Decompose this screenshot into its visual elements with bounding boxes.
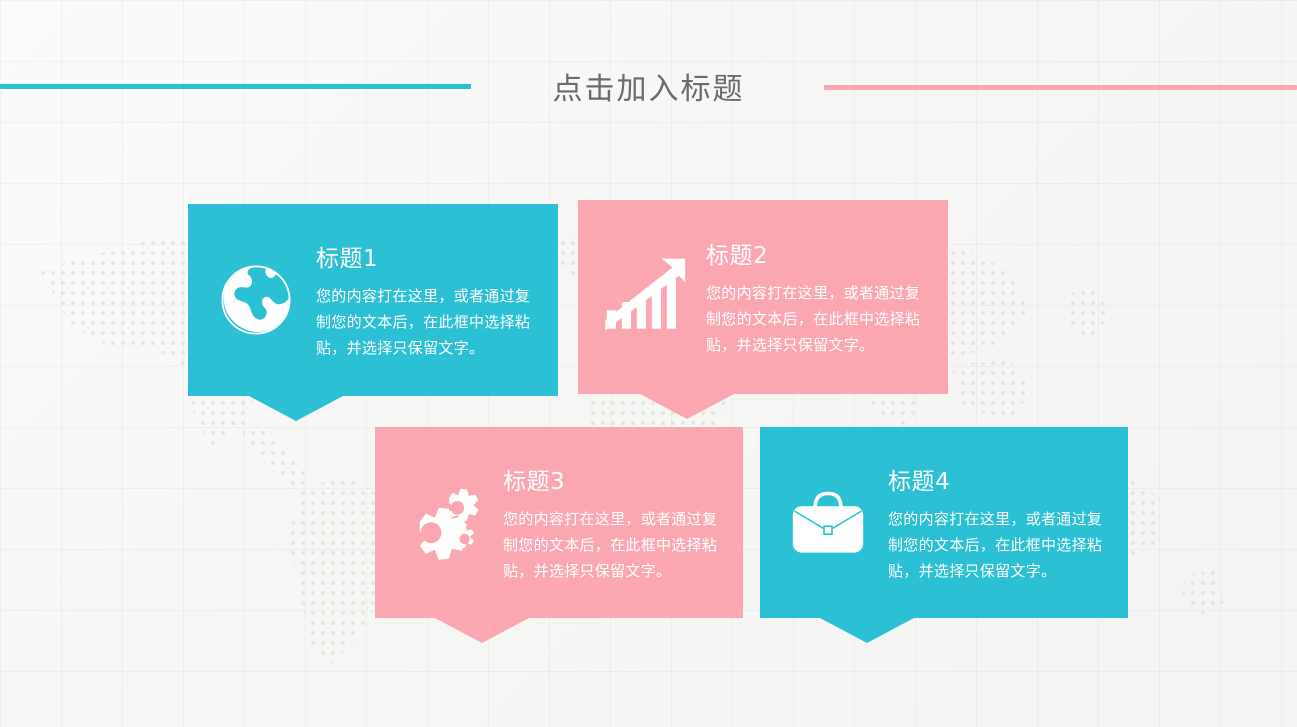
info-card-1[interactable]: 标题1 您的内容打在这里，或者通过复制您的文本后，在此框中选择粘贴，并选择只保留… — [188, 204, 558, 396]
info-card-2[interactable]: 标题2 您的内容打在这里，或者通过复制您的文本后，在此框中选择粘贴，并选择只保留… — [578, 200, 948, 394]
card-3-tail — [435, 618, 529, 643]
card-2-tail — [640, 394, 734, 419]
card-2-title: 标题2 — [706, 236, 926, 270]
globe-icon — [196, 258, 316, 342]
card-3-title: 标题3 — [503, 462, 721, 496]
card-3-description: 您的内容打在这里，或者通过复制您的文本后，在此框中选择粘贴，并选择只保留文字。 — [503, 506, 721, 584]
info-card-3[interactable]: 标题3 您的内容打在这里，或者通过复制您的文本后，在此框中选择粘贴，并选择只保留… — [375, 427, 743, 618]
gears-icon — [383, 481, 503, 565]
card-4-tail — [820, 618, 914, 643]
slide-header: 点击加入标题 — [0, 0, 1297, 160]
card-1-description: 您的内容打在这里，或者通过复制您的文本后，在此框中选择粘贴，并选择只保留文字。 — [316, 283, 536, 361]
card-4-description: 您的内容打在这里，或者通过复制您的文本后，在此框中选择粘贴，并选择只保留文字。 — [888, 506, 1106, 584]
card-4-title: 标题4 — [888, 462, 1106, 496]
page-title: 点击加入标题 — [0, 64, 1297, 108]
slide-canvas: 点击加入标题 标题1 您的内容打在这里，或者通过复制您的文本后，在此框中选择粘贴… — [0, 0, 1297, 727]
info-card-4[interactable]: 标题4 您的内容打在这里，或者通过复制您的文本后，在此框中选择粘贴，并选择只保留… — [760, 427, 1128, 618]
card-1-tail — [249, 396, 343, 421]
card-1-title: 标题1 — [316, 239, 536, 273]
card-2-description: 您的内容打在这里，或者通过复制您的文本后，在此框中选择粘贴，并选择只保留文字。 — [706, 280, 926, 358]
growth-chart-icon — [586, 257, 706, 337]
briefcase-icon — [768, 481, 888, 565]
